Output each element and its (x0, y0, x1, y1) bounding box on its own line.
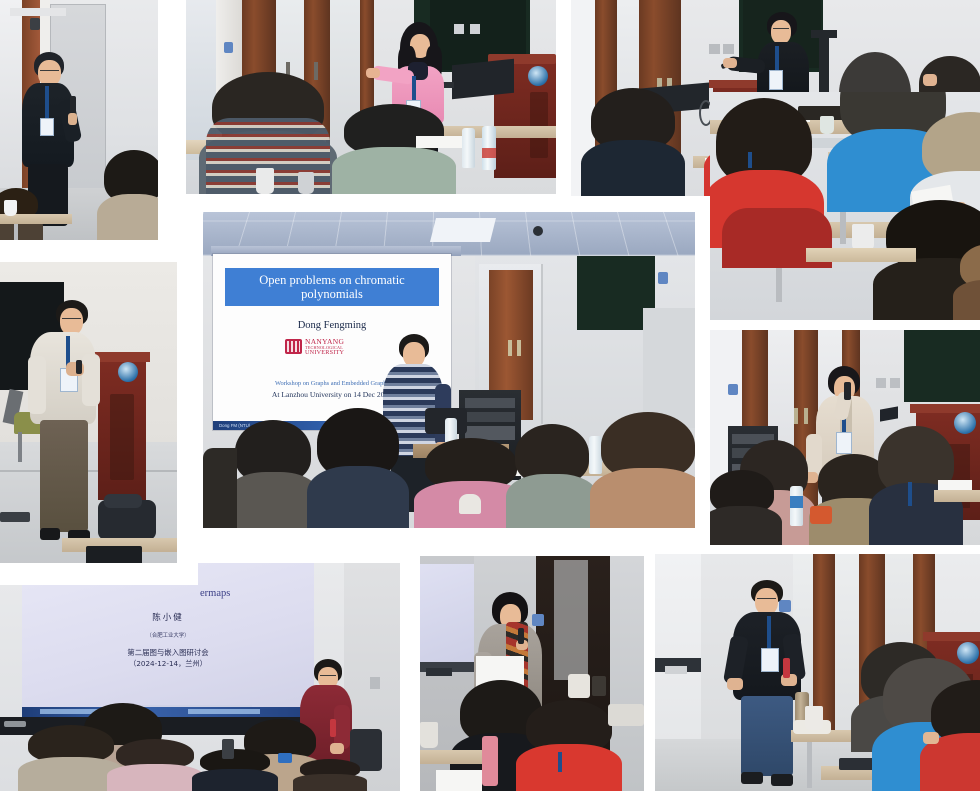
ntu-line-3: UNIVERSITY (305, 350, 344, 356)
ntu-logo: NANYANG TECHNOLOGICAL UNIVERSITY (285, 338, 344, 356)
photo-female-speaker-pointing-at-screen[interactable] (186, 0, 556, 194)
ntu-crest-icon (285, 339, 302, 354)
slide-title: Open problems on chromatic polynomials (225, 268, 439, 306)
slide-event-line-1: 第二届图与嵌入图研讨会 (22, 647, 314, 658)
slide-speaker-affiliation: （合肥工业大学） (22, 631, 314, 639)
projected-slide-bottom-left: ermaps 陈小健 （合肥工业大学） 第二届图与嵌入图研讨会 （2024-12… (22, 563, 314, 723)
photo-audience-back-row-listening[interactable] (710, 92, 980, 320)
photo-smiling-presenter-beside-podium[interactable] (0, 262, 177, 572)
photo-collage: Open problems on chromatic polynomials D… (0, 0, 980, 791)
photo-speaker-in-jeans-addressing-room[interactable] (655, 554, 980, 791)
photo-woman-reading-from-paper[interactable] (420, 556, 644, 791)
photo-bottom-left-slide-and-audience[interactable]: ermaps 陈小健 （合肥工业大学） 第二届图与嵌入图研讨会 （2024-12… (0, 563, 400, 791)
photo-speaker-with-microphone-by-door[interactable] (0, 0, 158, 240)
slide-title-fragment: ermaps (200, 588, 230, 599)
slide-speaker-name: 陈小健 (22, 611, 314, 623)
photo-woman-speaking-into-microphone[interactable] (710, 330, 980, 545)
photo-central-lecture-with-projected-slide[interactable]: Open problems on chromatic polynomials D… (203, 212, 695, 528)
slide-event-line-2: （2024-12-14，兰州） (22, 659, 314, 669)
slide-author: Dong Fengming (213, 320, 451, 331)
